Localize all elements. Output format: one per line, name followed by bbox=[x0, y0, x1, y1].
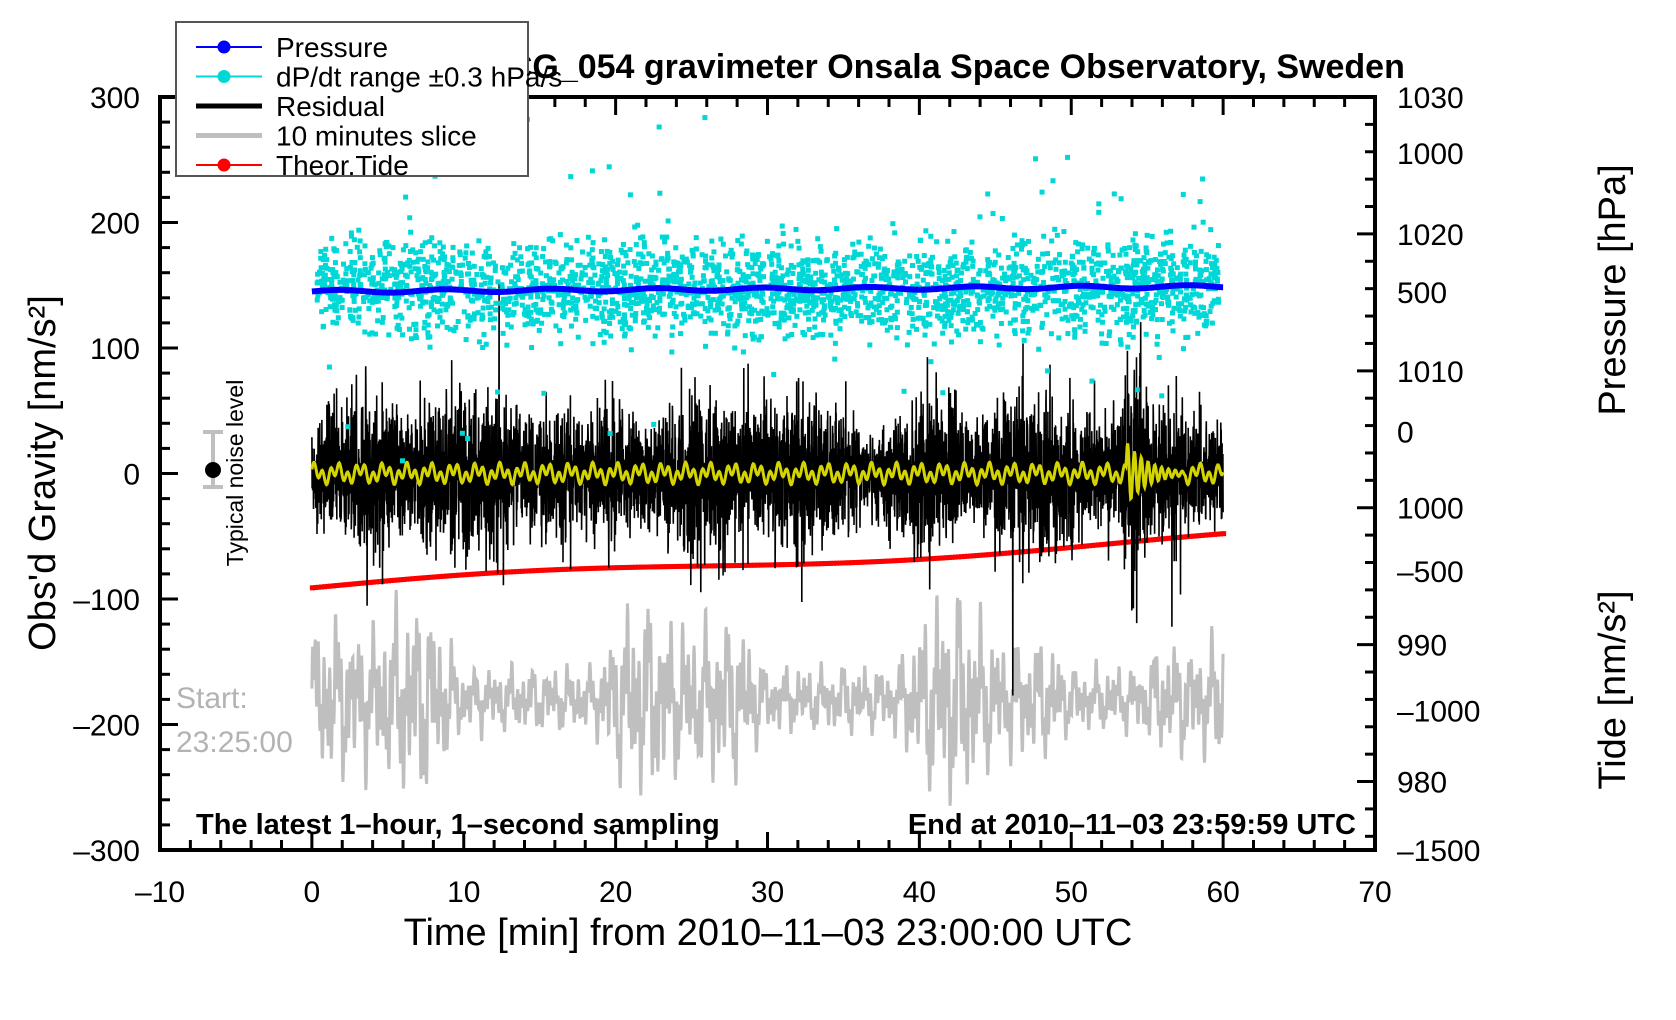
x-axis-title: Time [min] from 2010–11–03 23:00:00 UTC bbox=[404, 912, 1133, 954]
pressure-tick-label: 1010 bbox=[1397, 356, 1464, 389]
x-tick-label: –10 bbox=[135, 876, 185, 909]
series-residual bbox=[312, 282, 1223, 696]
x-tick-label: 10 bbox=[447, 876, 480, 909]
tide-tick-label: 0 bbox=[1397, 417, 1414, 450]
start-time: 23:25:00 bbox=[176, 726, 293, 759]
y-left-tick-label: –100 bbox=[73, 584, 140, 617]
legend-label: Pressure bbox=[276, 32, 388, 63]
x-tick-label: 70 bbox=[1358, 876, 1391, 909]
tide-tick-label: 1000 bbox=[1397, 138, 1464, 171]
legend-label: 10 minutes slice bbox=[276, 121, 477, 152]
typical-noise-level-annotation: Typical noise level bbox=[203, 380, 248, 567]
series-10-minutes-slice bbox=[312, 590, 1223, 806]
tide-tick-label: 500 bbox=[1397, 277, 1447, 310]
y-axis-right-ticks bbox=[1357, 97, 1375, 836]
chart-canvas: –10010203040506070 3002001000–100–200–30… bbox=[0, 0, 1676, 1020]
pressure-axis-title: Pressure [hPa] bbox=[1592, 164, 1634, 415]
legend[interactable]: PressuredP/dt range ±0.3 hPa/sResidual10… bbox=[176, 22, 562, 181]
y-left-tick-label: 0 bbox=[123, 459, 140, 492]
legend-label: dP/dt range ±0.3 hPa/s bbox=[276, 62, 562, 93]
plot-title: SCG_054 gravimeter Onsala Space Observat… bbox=[485, 48, 1405, 86]
pressure-tick-label: 980 bbox=[1397, 767, 1447, 800]
start-label: Start: bbox=[176, 682, 248, 715]
x-tick-label: 30 bbox=[751, 876, 784, 909]
y-axis-left-tick-labels: 3002001000–100–200–300 bbox=[73, 82, 140, 868]
y-left-tick-label: 200 bbox=[90, 208, 140, 241]
y-left-tick-label: –300 bbox=[73, 835, 140, 868]
legend-label: Residual bbox=[276, 91, 385, 122]
pressure-tick-label: 1020 bbox=[1397, 219, 1464, 252]
x-tick-label: 20 bbox=[599, 876, 632, 909]
pressure-tick-label: 1030 bbox=[1397, 82, 1464, 115]
y-left-tick-label: –200 bbox=[73, 710, 140, 743]
end-note: End at 2010–11–03 23:59:59 UTC bbox=[908, 809, 1356, 841]
sampling-note: The latest 1–hour, 1–second sampling bbox=[196, 809, 720, 841]
pressure-tick-label: 1000 bbox=[1397, 493, 1464, 526]
y-left-tick-label: 100 bbox=[90, 333, 140, 366]
gravimeter-plot: –10010203040506070 3002001000–100–200–30… bbox=[0, 0, 1676, 1020]
y-left-tick-label: 300 bbox=[90, 82, 140, 115]
x-tick-label: 40 bbox=[903, 876, 936, 909]
x-axis-tick-labels: –10010203040506070 bbox=[135, 876, 1392, 909]
x-tick-label: 0 bbox=[304, 876, 321, 909]
tide-tick-label: –1500 bbox=[1397, 835, 1480, 868]
tide-axis-title: Tide [nm/s²] bbox=[1592, 590, 1634, 789]
typical-noise-level-label: Typical noise level bbox=[222, 380, 248, 567]
tide-tick-label: –500 bbox=[1397, 556, 1464, 589]
series-theor-tide bbox=[310, 531, 1226, 590]
tide-tick-label: –1000 bbox=[1397, 696, 1480, 729]
pressure-tick-label: 990 bbox=[1397, 630, 1447, 663]
x-tick-label: 60 bbox=[1206, 876, 1239, 909]
x-tick-label: 50 bbox=[1055, 876, 1088, 909]
y-axis-left-title: Obs'd Gravity [nm/s²] bbox=[22, 295, 64, 651]
legend-label: Theor.Tide bbox=[276, 150, 409, 181]
